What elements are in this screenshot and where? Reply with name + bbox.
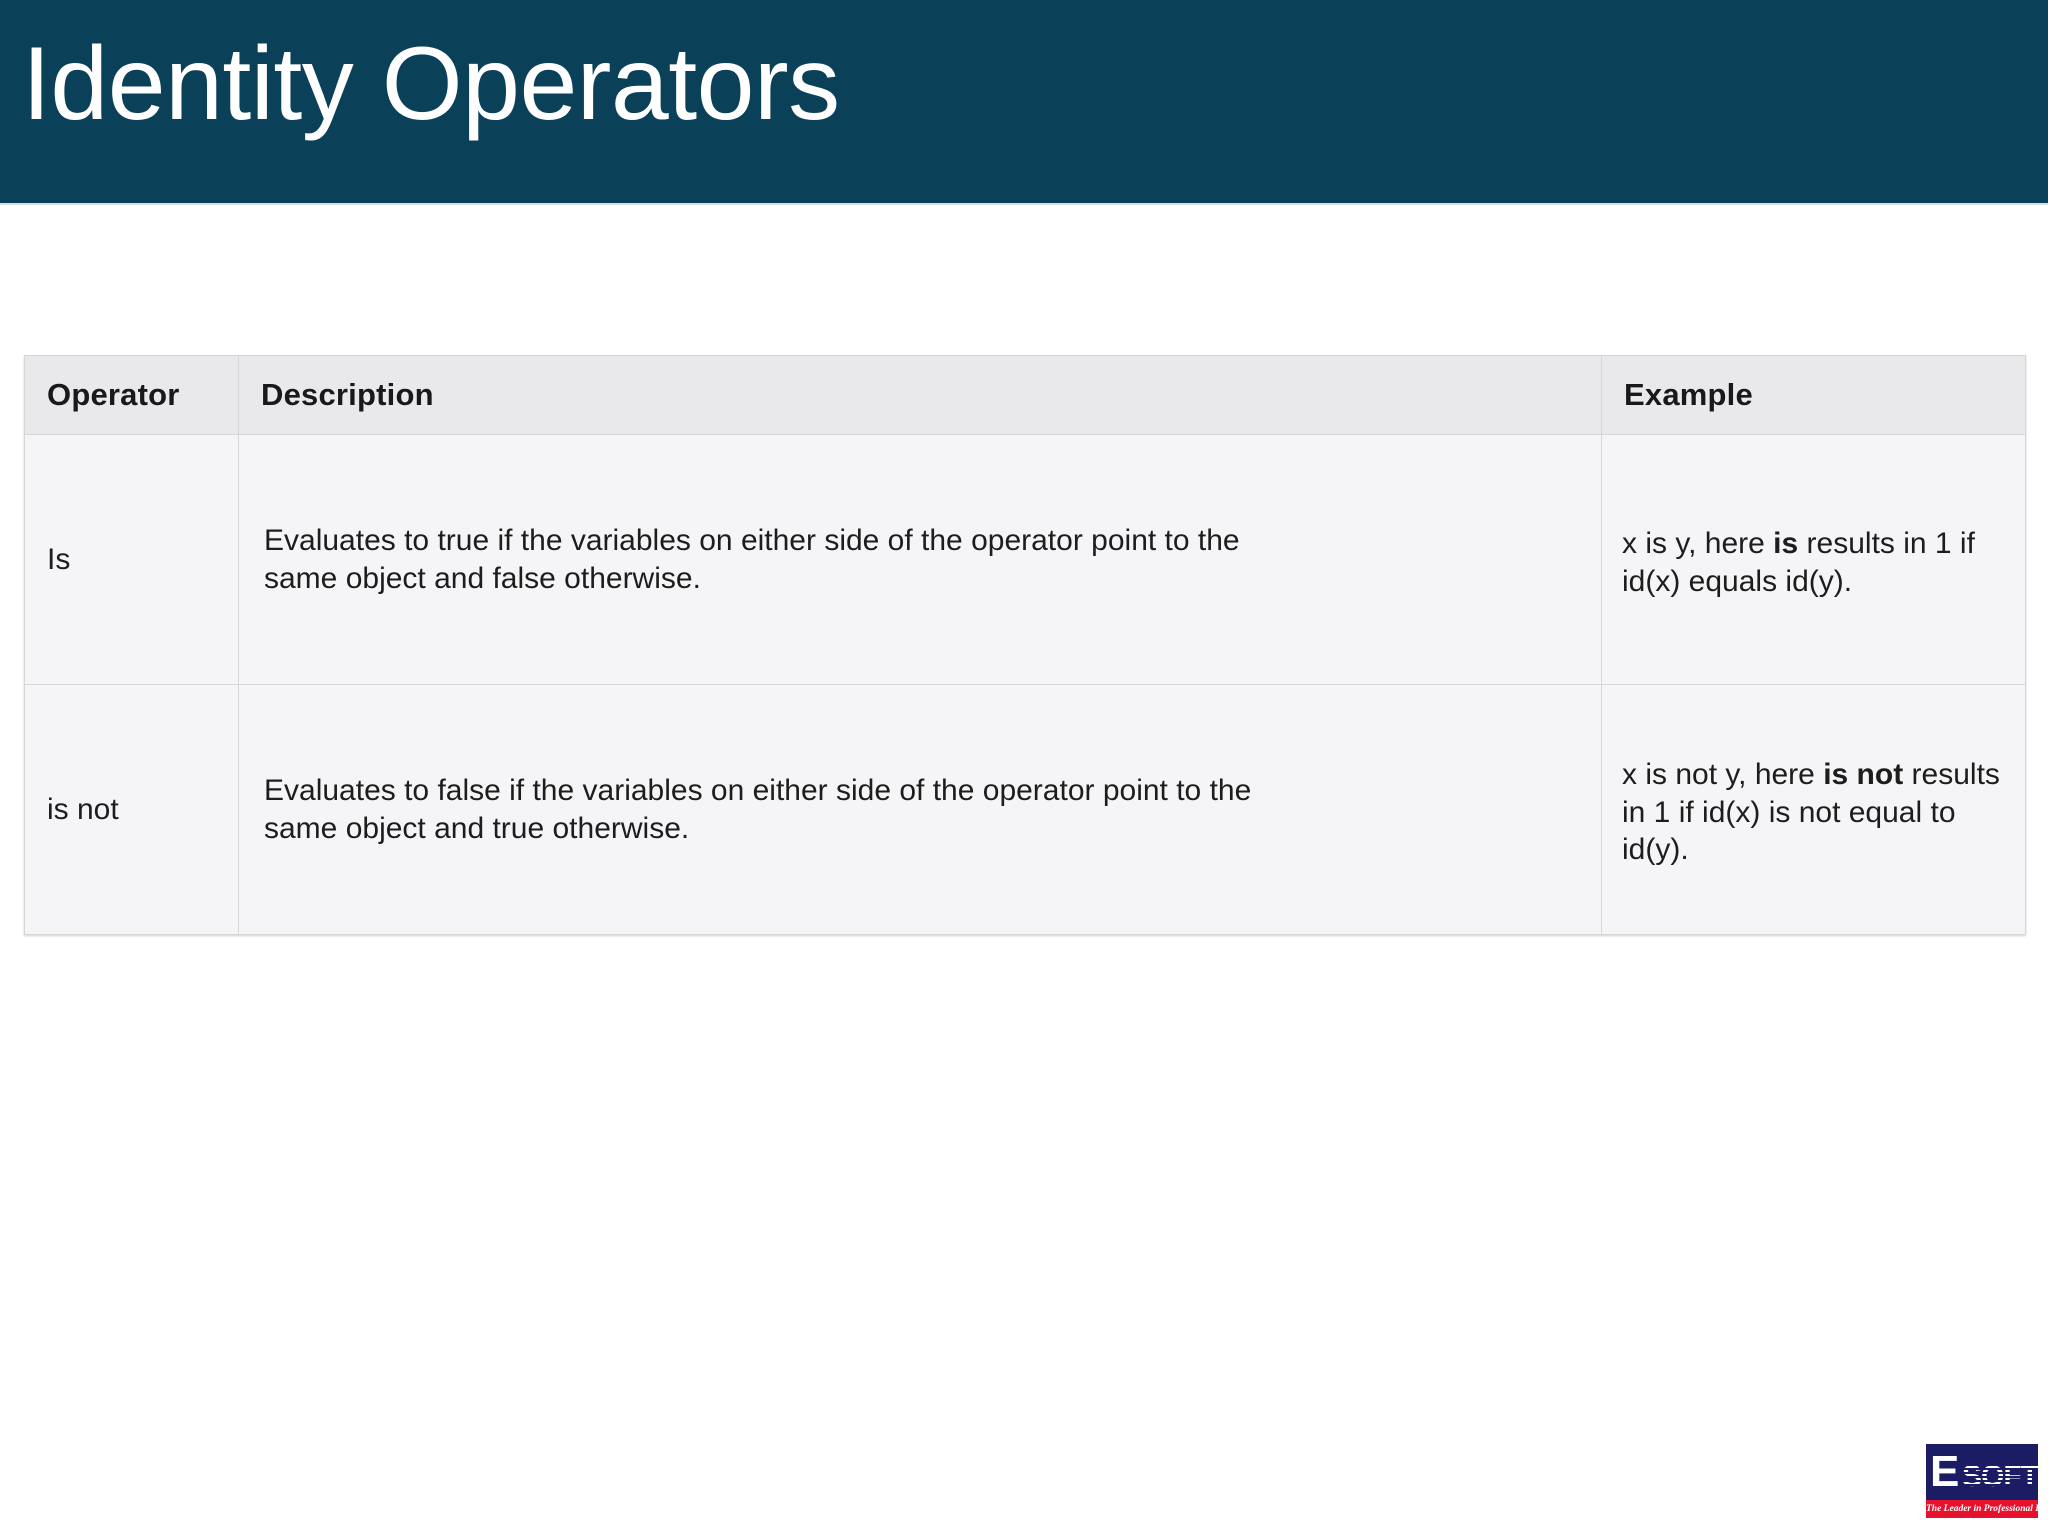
table-row: is not Evaluates to false if the variabl… (25, 685, 2026, 935)
cell-operator: is not (25, 685, 239, 935)
column-header-operator: Operator (25, 356, 239, 435)
esoft-logo: E SOFT The Leader in Professional IT Edu… (1926, 1444, 2038, 1518)
cell-description: Evaluates to true if the variables on ei… (239, 435, 1602, 685)
cell-example: x is y, here is results in 1 if id(x) eq… (1602, 435, 2026, 685)
example-text-emphasis: is not (1823, 758, 1903, 791)
cell-example: x is not y, here is not results in 1 if … (1602, 685, 2026, 935)
example-text-prefix: x is y, here (1622, 527, 1773, 560)
identity-operators-table: Operator Description Example Is Evaluate… (24, 355, 2026, 935)
cell-description: Evaluates to false if the variables on e… (239, 685, 1602, 935)
description-line: same object and true otherwise. (264, 810, 1571, 848)
esoft-logo-word: SOFT (1962, 1462, 2038, 1492)
esoft-logo-box: E SOFT (1926, 1444, 2038, 1500)
table-header-row: Operator Description Example (25, 356, 2026, 435)
example-text-prefix: x is not y, here (1622, 758, 1823, 791)
cell-operator: Is (25, 435, 239, 685)
description-line: Evaluates to false if the variables on e… (264, 772, 1571, 810)
description-line: same object and false otherwise. (264, 560, 1571, 598)
esoft-logo-tagline: The Leader in Professional IT Education (1926, 1500, 2038, 1518)
description-line: Evaluates to true if the variables on ei… (264, 522, 1571, 560)
example-text-emphasis: is (1773, 527, 1798, 560)
esoft-logo-letter: E (1930, 1450, 1959, 1494)
column-header-description: Description (239, 356, 1602, 435)
slide-content-area: Operator Description Example Is Evaluate… (0, 205, 2048, 1536)
page-title: Identity Operators (22, 30, 840, 139)
table-row: Is Evaluates to true if the variables on… (25, 435, 2026, 685)
column-header-example: Example (1602, 356, 2026, 435)
slide-header-banner: Identity Operators (0, 0, 2048, 205)
